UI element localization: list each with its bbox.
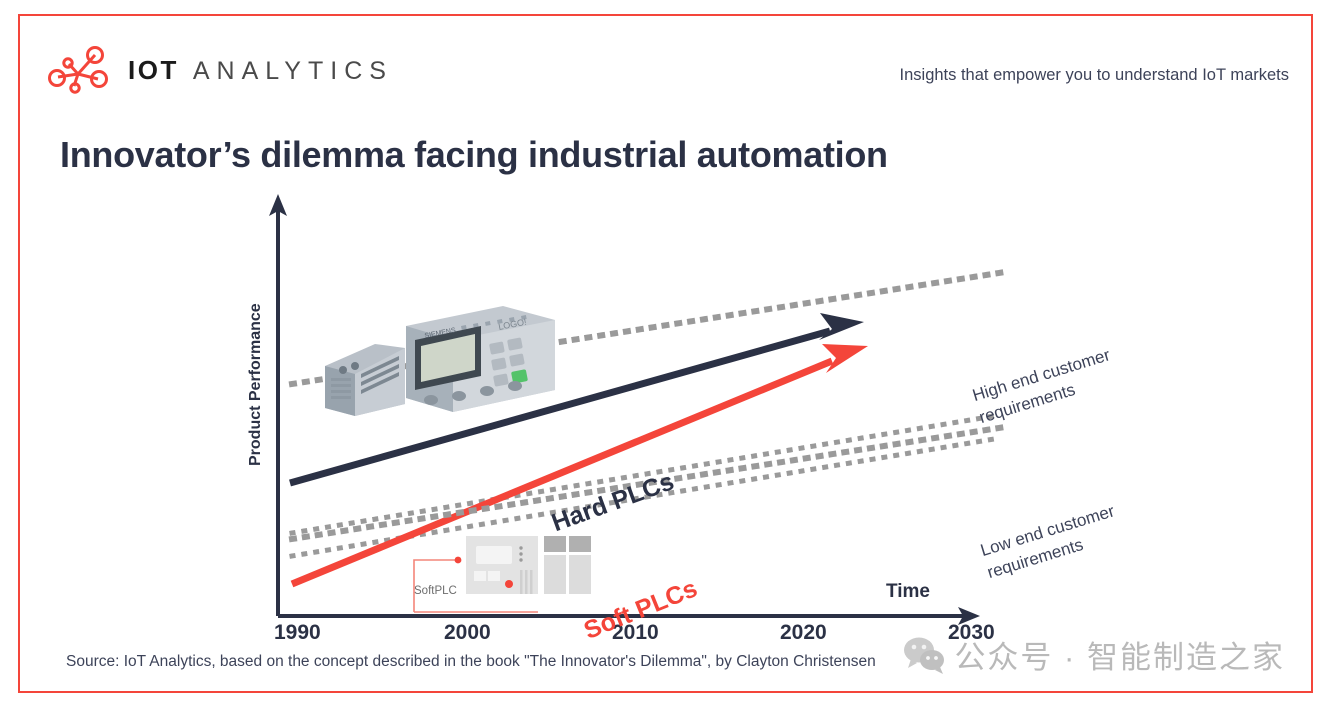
wechat-icon	[902, 636, 946, 674]
watermark: 公众号 · 智能制造之家	[902, 632, 1285, 677]
source-note: Source: IoT Analytics, based on the conc…	[66, 653, 876, 671]
footer: Source: IoT Analytics, based on the conc…	[20, 629, 1311, 691]
soft-plc-caption: SoftPLC	[414, 585, 457, 597]
header: IOT ANALYTICS Insights that empower you …	[20, 16, 1311, 106]
header-tagline: Insights that empower you to understand …	[900, 66, 1289, 85]
brand-wordmark: IOT ANALYTICS	[128, 55, 393, 86]
brand-logo: IOT ANALYTICS	[42, 44, 393, 96]
slide-frame: IOT ANALYTICS Insights that empower you …	[18, 14, 1313, 693]
brand-iot-text: IOT	[128, 55, 179, 86]
page-title: Innovator’s dilemma facing industrial au…	[60, 134, 888, 176]
network-nodes-icon	[42, 44, 112, 96]
chart-area: SIEMENS LOGO!	[20, 176, 1315, 646]
watermark-text: 公众号 · 智能制造之家	[954, 632, 1285, 677]
soft-plc-illustration	[408, 516, 623, 616]
y-axis-label: Product Performance	[247, 266, 265, 466]
hard-plc-photo: SIEMENS LOGO!	[303, 304, 568, 424]
x-axis-label: Time	[886, 581, 930, 603]
dotted-overlay	[20, 176, 1315, 646]
brand-analytics-text: ANALYTICS	[193, 57, 393, 86]
